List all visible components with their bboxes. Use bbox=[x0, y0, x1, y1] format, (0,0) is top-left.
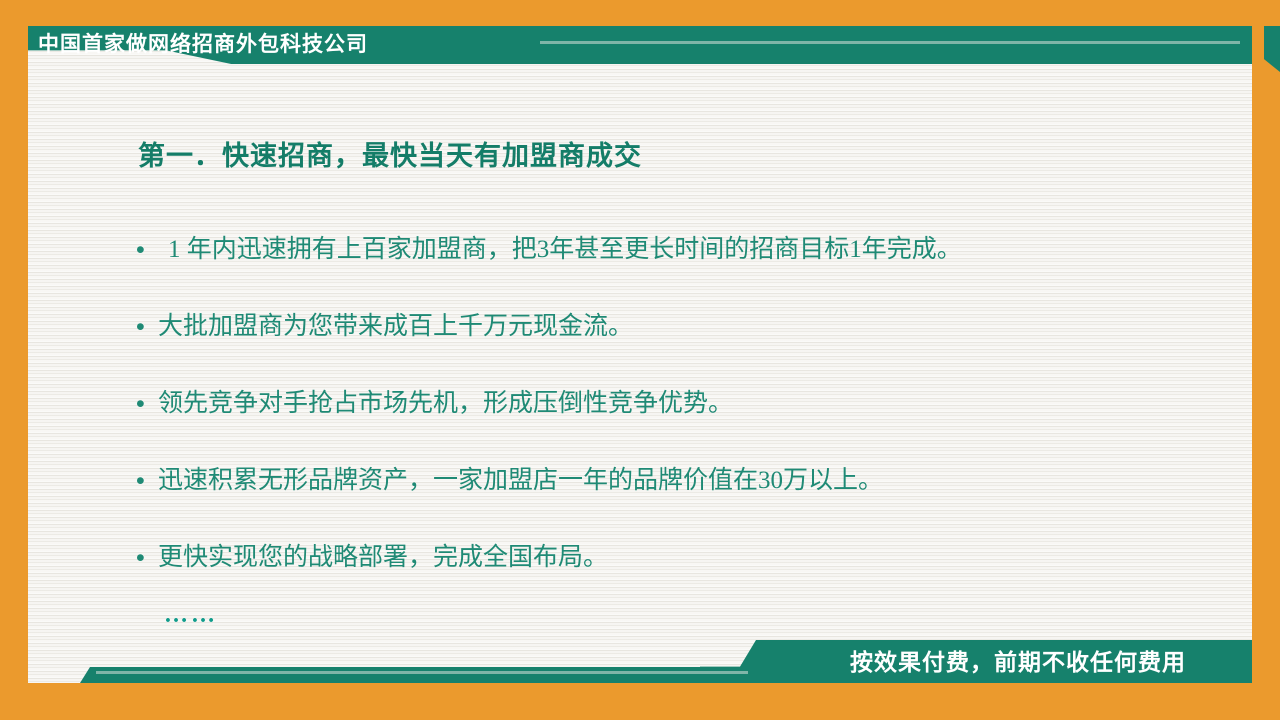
header-divider-rule bbox=[540, 41, 1240, 44]
list-item-text: 大批加盟商为您带来成百上千万元现金流。 bbox=[158, 310, 633, 344]
bullet-marker-icon: • bbox=[136, 387, 158, 421]
bullet-marker-icon: • bbox=[136, 310, 158, 344]
header-title: 中国首家做网络招商外包科技公司 bbox=[38, 29, 368, 61]
list-item: • 更快实现您的战略部署，完成全国布局。 bbox=[136, 541, 1236, 618]
page-title: 第一．快速招商，最快当天有加盟商成交 bbox=[138, 134, 642, 173]
list-item: • 1 年内迅速拥有上百家加盟商，把3年甚至更长时间的招商目标1年完成。 bbox=[136, 233, 1236, 310]
bullet-marker-icon: • bbox=[136, 541, 158, 575]
list-item-text: 更快实现您的战略部署，完成全国布局。 bbox=[158, 541, 608, 575]
list-item: • 迅速积累无形品牌资产，一家加盟店一年的品牌价值在30万以上。 bbox=[136, 464, 1236, 541]
header-band-right-tab bbox=[1264, 26, 1280, 72]
list-item-text: 迅速积累无形品牌资产，一家加盟店一年的品牌价值在30万以上。 bbox=[158, 464, 883, 498]
bullet-marker-icon: • bbox=[136, 233, 158, 267]
bullet-list: • 1 年内迅速拥有上百家加盟商，把3年甚至更长时间的招商目标1年完成。 • 大… bbox=[136, 233, 1236, 618]
footer-band-left bbox=[80, 667, 760, 683]
ellipsis-continuation: …… bbox=[164, 602, 218, 629]
presentation-slide: 中国首家做网络招商外包科技公司 第一．快速招商，最快当天有加盟商成交 • 1 年… bbox=[0, 0, 1280, 720]
bullet-marker-icon: • bbox=[136, 464, 158, 498]
footer-tagline: 按效果付费，前期不收任何费用 bbox=[850, 646, 1186, 678]
list-item-text: 1 年内迅速拥有上百家加盟商，把3年甚至更长时间的招商目标1年完成。 bbox=[158, 233, 962, 267]
slide-content: 第一．快速招商，最快当天有加盟商成交 • 1 年内迅速拥有上百家加盟商，把3年甚… bbox=[28, 90, 1252, 630]
list-item: • 大批加盟商为您带来成百上千万元现金流。 bbox=[136, 310, 1236, 387]
footer-divider-rule bbox=[96, 671, 748, 674]
list-item-text: 领先竞争对手抢占市场先机，形成压倒性竞争优势。 bbox=[158, 387, 733, 421]
list-item: • 领先竞争对手抢占市场先机，形成压倒性竞争优势。 bbox=[136, 387, 1236, 464]
